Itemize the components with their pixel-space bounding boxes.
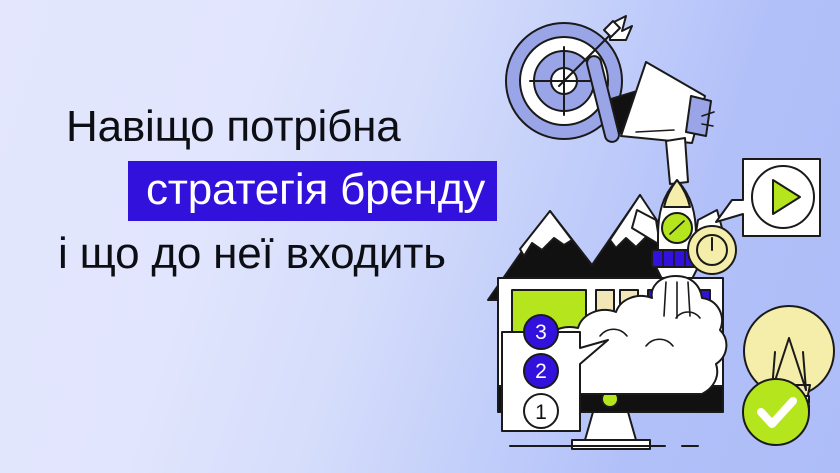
step-number-3: 3 (535, 321, 547, 344)
headline: Навіщо потрібна стратегія бренду і що до… (0, 96, 560, 285)
headline-line-2: стратегія бренду (0, 159, 560, 221)
step-number-2: 2 (535, 360, 547, 383)
play-button-card[interactable] (716, 159, 820, 236)
check-badge-icon (743, 379, 809, 445)
power-button-icon[interactable] (688, 226, 736, 274)
banner: .st { stroke:#1a1a1a; stroke-width:2; st… (0, 0, 840, 473)
step-number-1: 1 (535, 401, 547, 424)
headline-line-3: і що до неї входить (0, 223, 560, 285)
headline-line-1: Навіщо потрібна (0, 96, 560, 158)
headline-highlight: стратегія бренду (128, 161, 497, 221)
megaphone-icon (586, 55, 714, 184)
